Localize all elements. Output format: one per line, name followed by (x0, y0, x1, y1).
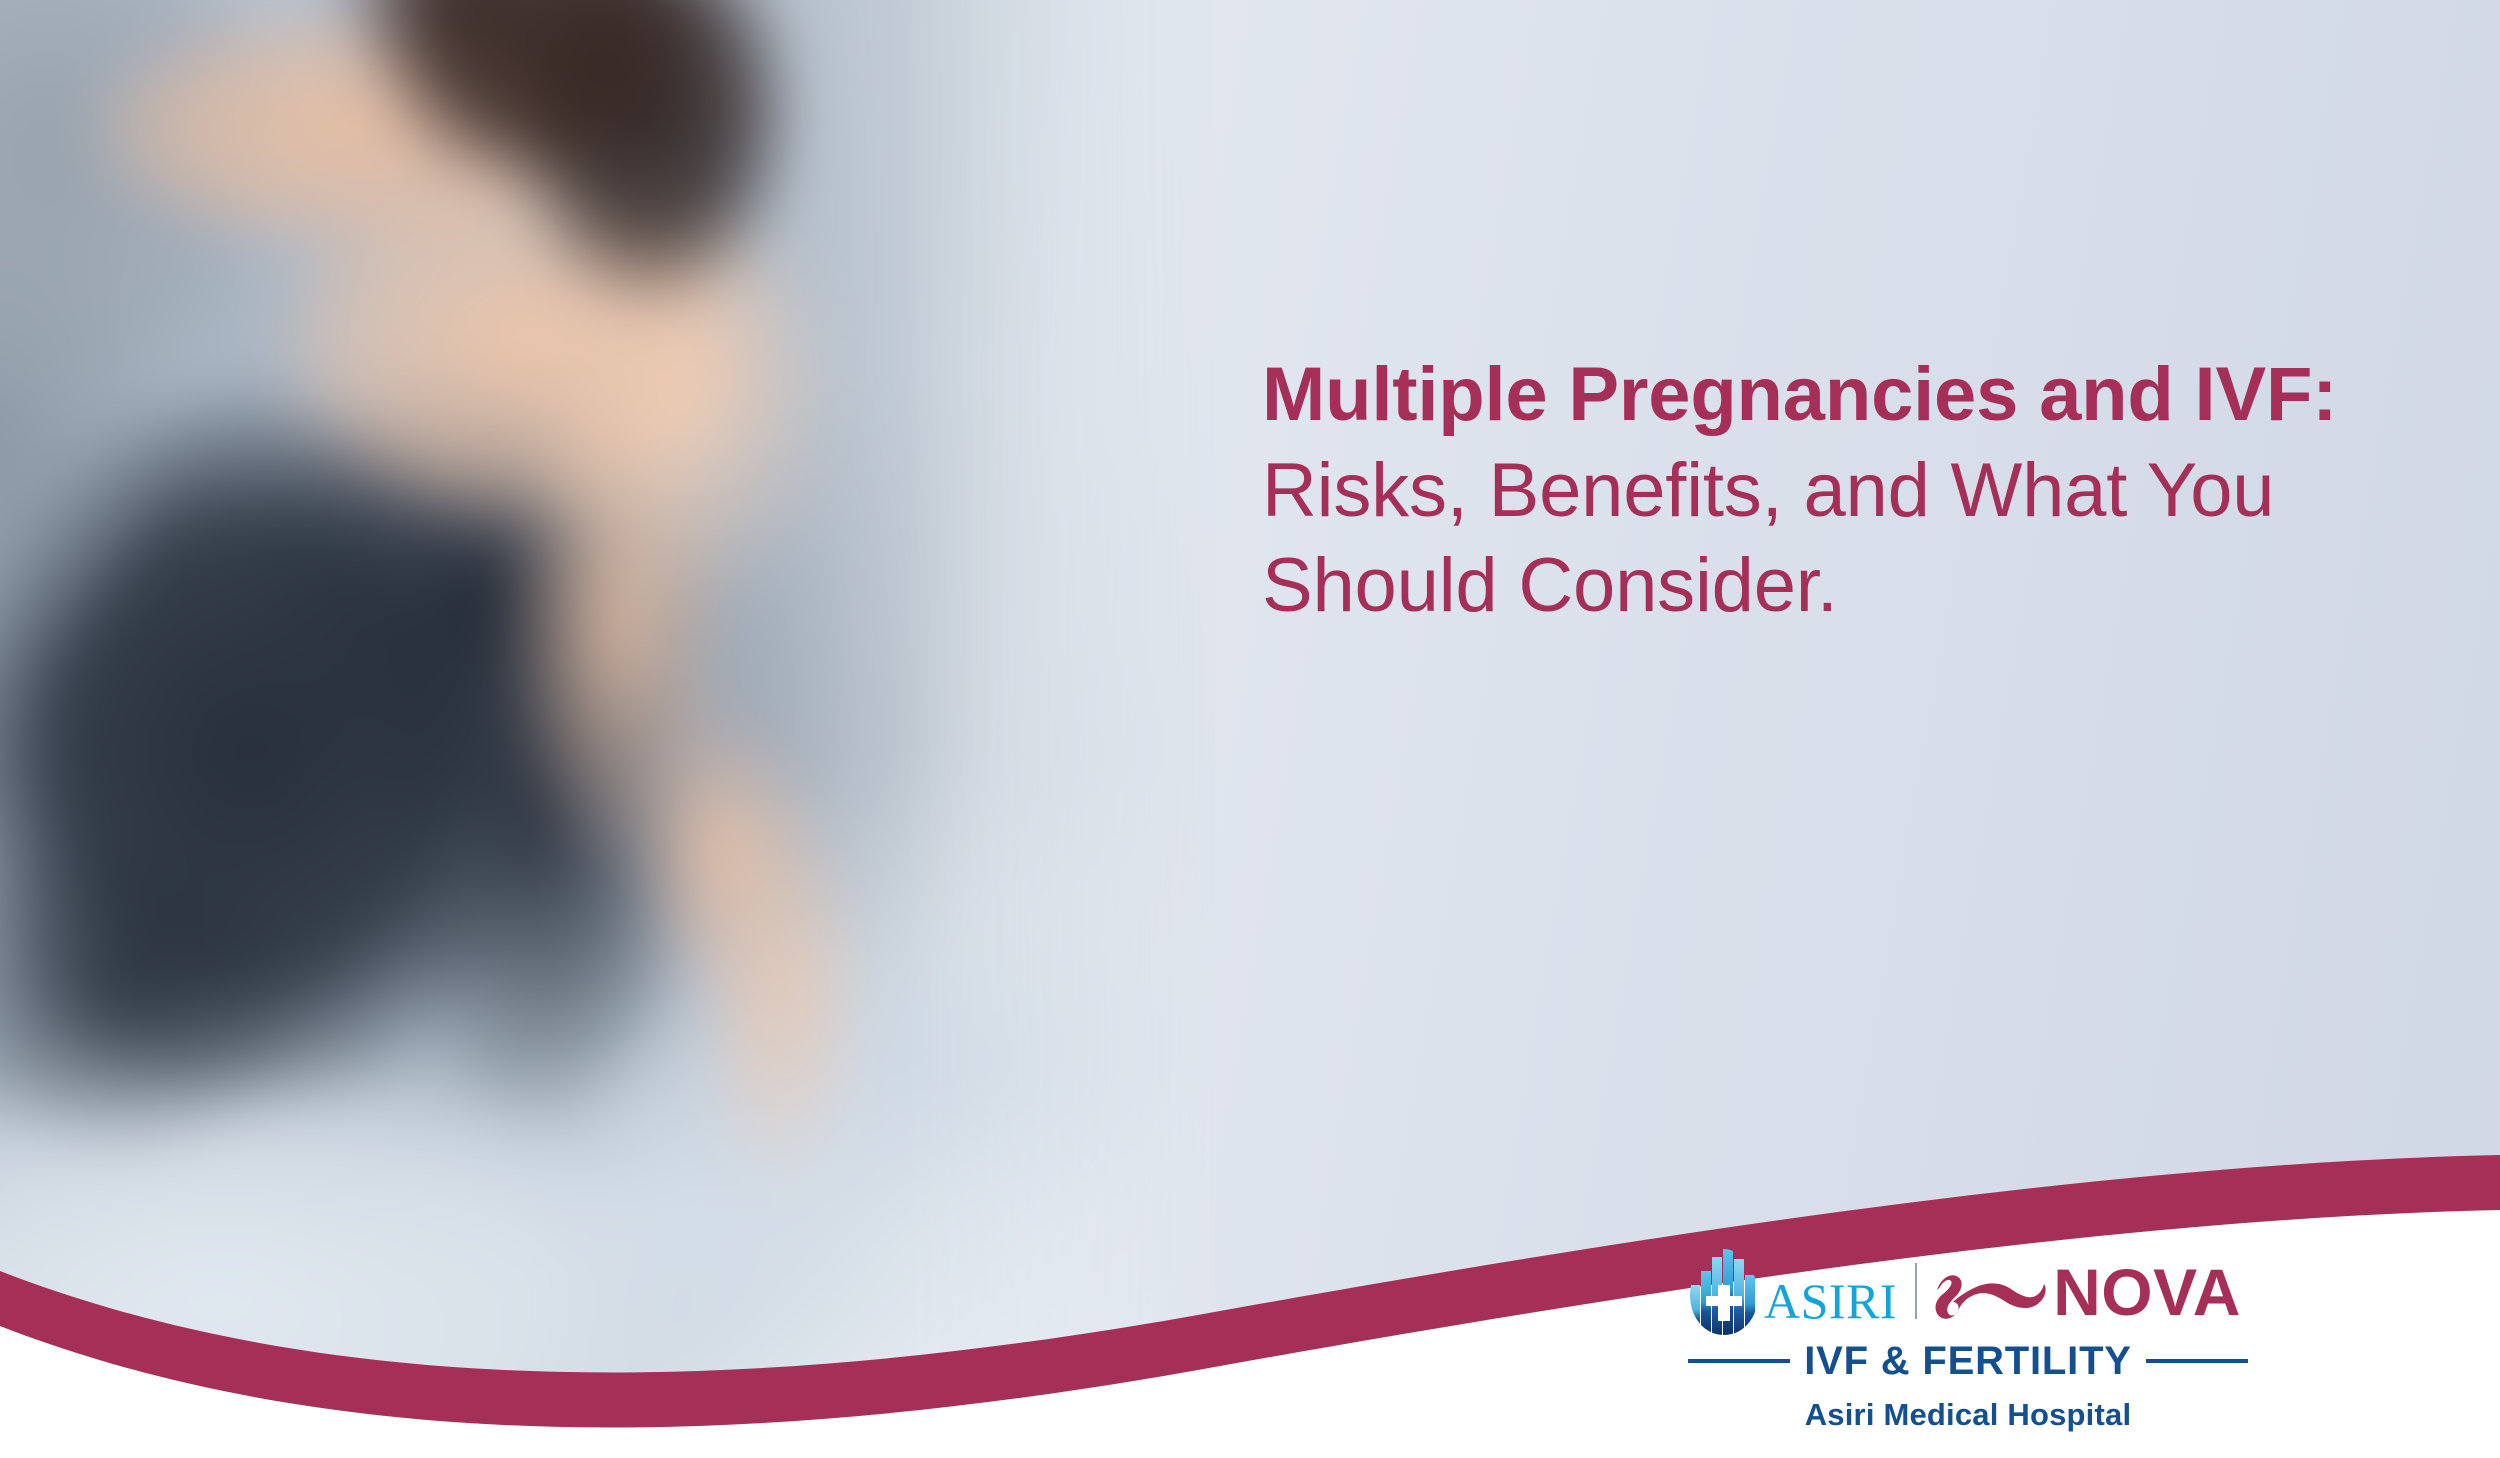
brand-divider (1915, 1263, 1917, 1319)
brand-logo: Asiri NOVA IVF & FERTILITY Asiri Medical… (1688, 1243, 2248, 1433)
nova-swoosh-mark-icon (1931, 1258, 2049, 1324)
asiri-hand-cross-mark-icon (1688, 1245, 1760, 1337)
banner: Multiple Pregnancies and IVF: Risks, Ben… (0, 0, 2500, 1458)
brand-tagline: IVF & FERTILITY (1790, 1341, 2146, 1381)
brand-logo-primary-row: Asiri NOVA (1688, 1243, 2248, 1339)
page-title: Multiple Pregnancies and IVF: Risks, Ben… (1262, 347, 2412, 634)
brand-name-asiri: Asiri (1764, 1258, 1897, 1330)
brand-rule-right (2146, 1359, 2248, 1363)
brand-name-nova: NOVA (2053, 1259, 2241, 1325)
page-title-lead: Multiple Pregnancies and IVF: (1262, 352, 2337, 437)
brand-tagline-row: IVF & FERTILITY (1688, 1341, 2248, 1381)
page-title-rest: Risks, Benefits, and What You Should Con… (1262, 448, 2274, 629)
brand-rule-left (1688, 1359, 1790, 1363)
brand-parent-org: Asiri Medical Hospital (1688, 1397, 2248, 1433)
